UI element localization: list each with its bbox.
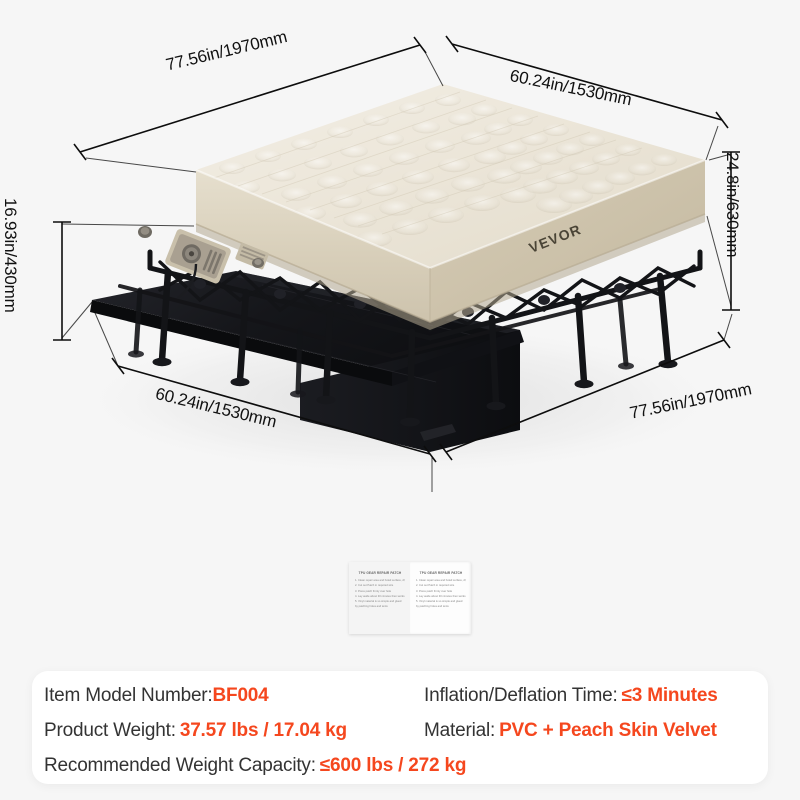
spec-item-model-number: Item Model Number: BF004 — [44, 685, 424, 707]
spec-value: ≤3 Minutes — [622, 685, 718, 707]
dimension-label-frame-height: 16.93in/430mm — [0, 198, 20, 313]
leaflet-title-right: TPU GEAR REPAIR PATCH — [416, 571, 466, 575]
spec-label: Item Model Number: — [44, 685, 213, 707]
product-drawing: VEVOR — [0, 0, 800, 650]
spec-label: Material: — [424, 720, 495, 742]
spec-weight-capacity: Recommended Weight Capacity: ≤600 lbs / … — [44, 755, 424, 777]
spec-row: Recommended Weight Capacity: ≤600 lbs / … — [32, 755, 768, 777]
spec-product-weight: Product Weight: 37.57 lbs / 17.04 kg — [44, 720, 424, 742]
leaflet-page-left: TPU GEAR REPAIR PATCH 1. Clean repair ar… — [349, 562, 410, 634]
leaflet-title-left: TPU GEAR REPAIR PATCH — [355, 571, 405, 575]
leaflet-body: TPU GEAR REPAIR PATCH 1. Clean repair ar… — [349, 562, 471, 634]
spec-value: BF004 — [213, 685, 269, 707]
leaflet-step: by patching holes and tents — [416, 604, 466, 609]
spec-value: 37.57 lbs / 17.04 kg — [180, 720, 347, 742]
spec-value: PVC + Peach Skin Velvet — [499, 720, 717, 742]
spec-label: Recommended Weight Capacity: — [44, 755, 316, 777]
product-illustration: VEVOR — [0, 0, 800, 650]
spec-row: Item Model Number: BF004 Inflation/Defla… — [32, 685, 768, 707]
leaflet-step: by patching holes and tents — [355, 604, 405, 609]
spec-inflation-time: Inflation/Deflation Time: ≤3 Minutes — [424, 685, 718, 707]
spec-label: Inflation/Deflation Time: — [424, 685, 618, 707]
valve-cap — [138, 226, 152, 238]
specification-card: Item Model Number: BF004 Inflation/Defla… — [32, 671, 768, 784]
leaflet-page-right: TPU GEAR REPAIR PATCH 1. Clean repair ar… — [410, 562, 471, 634]
dimension-label-total-height: 24.8in/630mm — [722, 152, 742, 257]
secondary-valve — [252, 258, 264, 268]
spec-label: Product Weight: — [44, 720, 176, 742]
spec-row: Product Weight: 37.57 lbs / 17.04 kg Mat… — [32, 720, 768, 742]
spec-material: Material: PVC + Peach Skin Velvet — [424, 720, 717, 742]
repair-patch-leaflet: TPU GEAR REPAIR PATCH 1. Clean repair ar… — [349, 562, 471, 634]
spec-value: ≤600 lbs / 272 kg — [320, 755, 466, 777]
product-spec-page: VEVOR — [0, 0, 800, 800]
